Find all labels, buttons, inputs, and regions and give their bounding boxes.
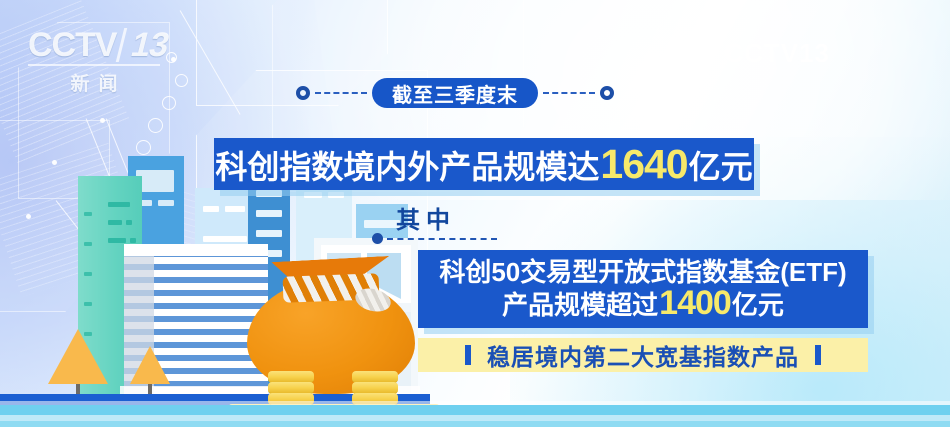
logo-subtitle: 新闻 <box>28 69 160 96</box>
tree-large <box>48 329 108 394</box>
headline-prefix: 科创指数境内外产品规模达 <box>215 151 599 183</box>
banner-left-bar-icon <box>465 345 471 365</box>
header-pill-row: 截至三季度末 <box>296 78 614 108</box>
subdetail-suffix: 亿元 <box>732 291 784 319</box>
subdetail-line-2: 产品规模超过 1400 亿元 <box>502 286 784 320</box>
headline-suffix: 亿元 <box>689 151 753 183</box>
subdetail-prefix: 产品规模超过 <box>502 291 658 319</box>
channel-watermark: CCTV13 <box>724 38 830 69</box>
subdetail-line-1: 科创50交易型开放式指数基金(ETF) <box>439 258 846 286</box>
logo-cctv-text: CCTV <box>28 28 117 62</box>
subdetail-box: 科创50交易型开放式指数基金(ETF) 产品规模超过 1400 亿元 <box>418 250 868 328</box>
pill-right-dash <box>543 92 595 94</box>
connector-label: 其中 <box>396 200 456 235</box>
header-pill-label: 截至三季度末 <box>372 78 538 108</box>
dot-marker <box>100 118 105 123</box>
logo-wordmark: CCTV 13 <box>28 28 178 62</box>
logo-channel-number: 13 <box>115 28 171 62</box>
infographic-slide: CCTV13 CCTV 13 新闻 <box>0 0 950 427</box>
connector-dashed-line <box>387 238 497 240</box>
subdetail-number: 1400 <box>658 286 732 320</box>
bottom-strip-cyan-2 <box>0 421 950 427</box>
headline-text: 科创指数境内外产品规模达 1640 亿元 <box>215 144 752 185</box>
connector-dot-icon <box>372 233 383 244</box>
banner-right-bar-icon <box>815 345 821 365</box>
banner-text: 稳居境内第二大宽基指数产品 <box>487 338 799 372</box>
logo-divider <box>28 64 160 66</box>
pill-left-ring-icon <box>296 86 310 100</box>
circle-node-icon <box>162 96 176 110</box>
pill-right-ring-icon <box>600 86 614 100</box>
headline-number: 1640 <box>599 144 688 185</box>
bottom-strip-cyan <box>0 405 950 415</box>
headline-box: 科创指数境内外产品规模达 1640 亿元 <box>214 138 754 190</box>
diagonal-line <box>179 10 240 115</box>
cctv13-logo: CCTV 13 新闻 <box>28 28 178 96</box>
highlight-banner: 稳居境内第二大宽基指数产品 <box>418 338 868 372</box>
pill-left-dash <box>315 92 367 94</box>
tree-small <box>130 346 170 394</box>
